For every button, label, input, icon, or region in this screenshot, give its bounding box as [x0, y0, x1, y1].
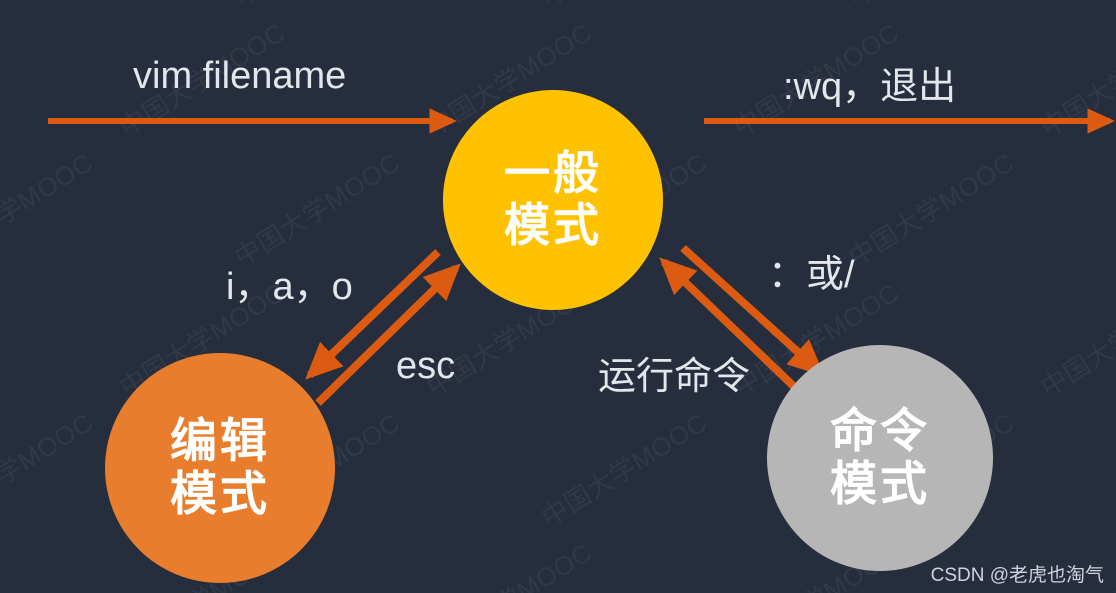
edge-label-quit: :wq，退出 [783, 55, 956, 110]
edge-label-colon: ：或/ [768, 243, 855, 298]
edge-label-run: 运行命令 [598, 345, 750, 400]
csdn-credit: CSDN @老虎也淘气 [931, 560, 1104, 587]
edge-label-insert: i，a，o [226, 255, 353, 310]
node-command-mode-line1: 命令 [830, 405, 930, 458]
node-normal-mode[interactable]: 一般 模式 [443, 90, 663, 310]
node-normal-mode-line1: 一般 [504, 148, 602, 200]
node-edit-mode-line2: 模式 [170, 468, 270, 521]
vim-mode-diagram: 中国大学MOOC中国大学MOOC中国大学MOOC中国大学MOOC中国大学MOOC… [0, 0, 1116, 593]
node-command-mode-line2: 模式 [830, 458, 930, 511]
edge-label-esc: esc [396, 345, 455, 388]
edge-label-open: vim filename [133, 55, 346, 98]
node-edit-mode-line1: 编辑 [170, 415, 270, 468]
node-command-mode[interactable]: 命令 模式 [767, 345, 993, 571]
node-normal-mode-line2: 模式 [504, 200, 602, 252]
node-edit-mode[interactable]: 编辑 模式 [105, 353, 335, 583]
